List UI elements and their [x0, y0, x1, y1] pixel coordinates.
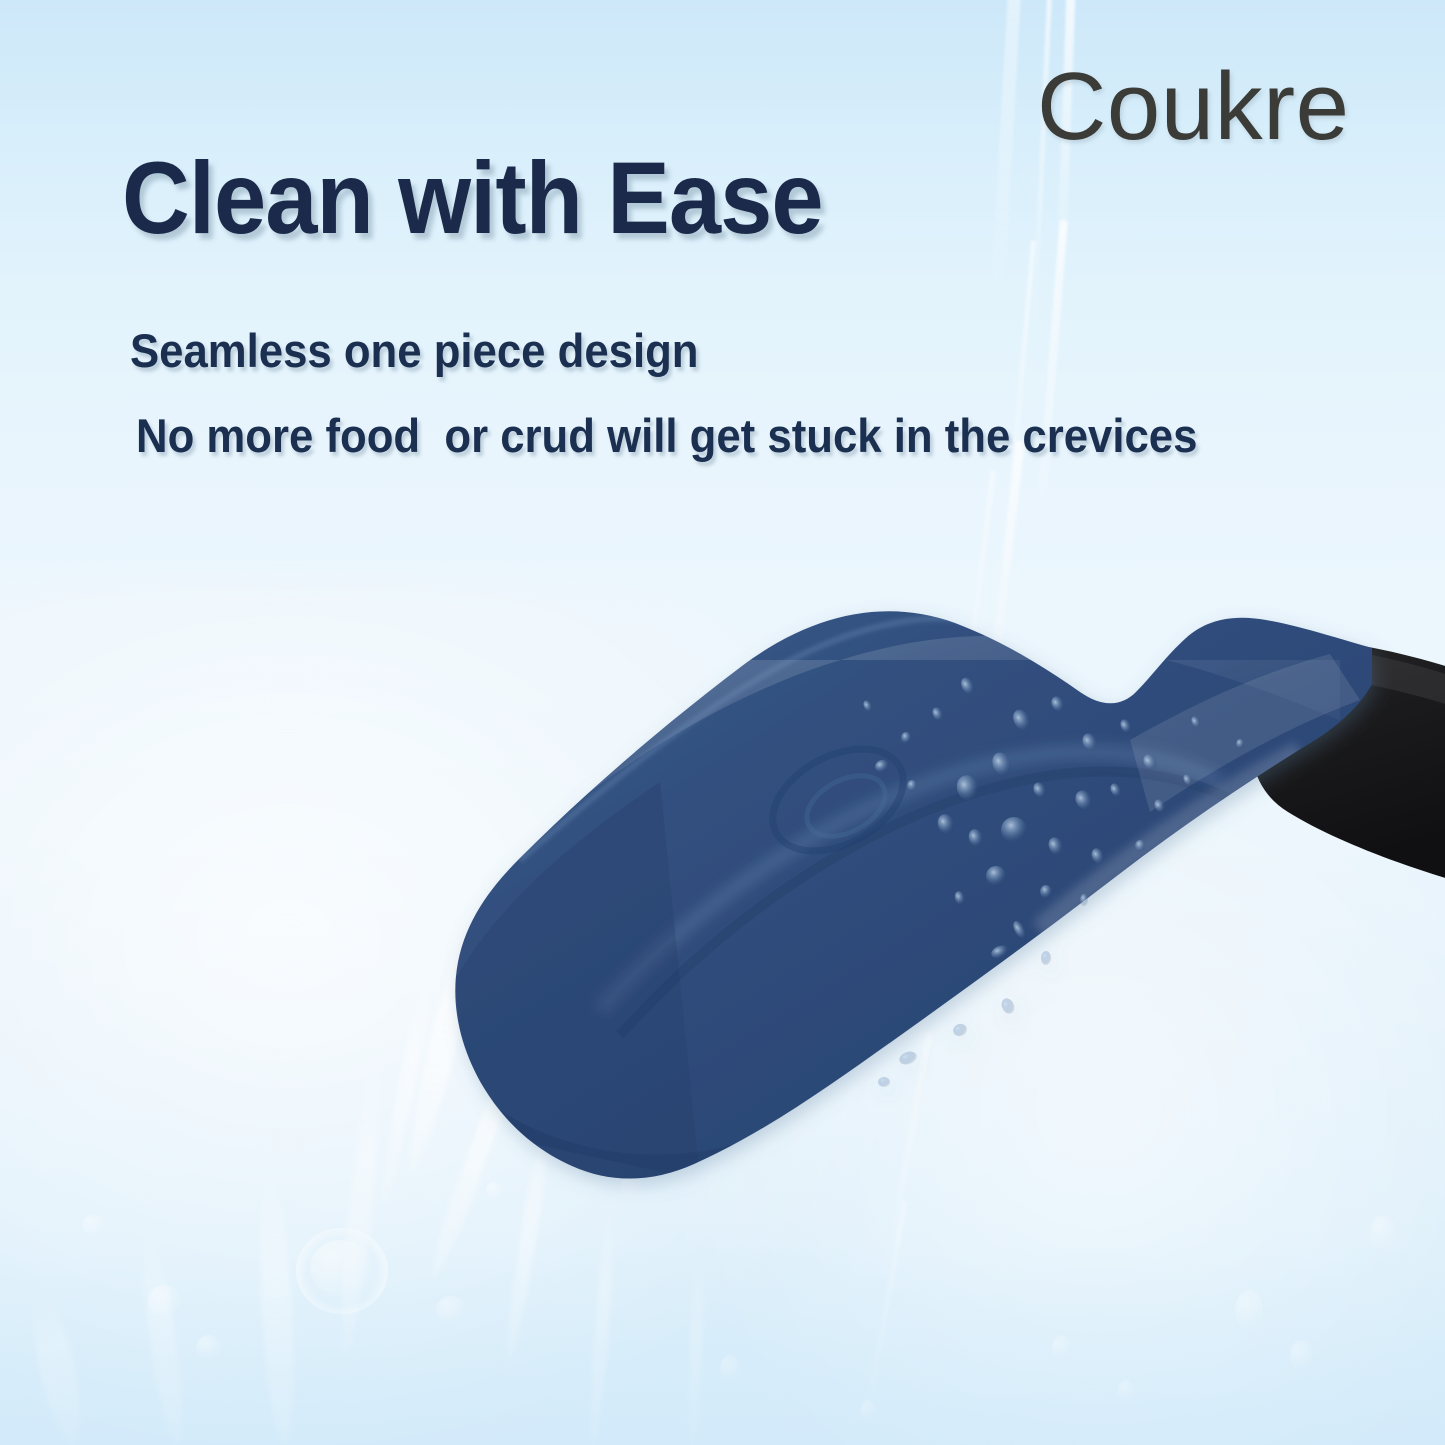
spatula-handle — [1252, 639, 1445, 880]
brand-logo-text: Coukre — [1037, 52, 1349, 162]
product-marketing-image: Coukre Clean with Ease Seamless one piec… — [0, 0, 1445, 1445]
water-wash-left — [0, 578, 939, 1445]
blade-surface-shading — [455, 618, 1360, 1211]
subheading-two: No more food or crud will get stuck in t… — [136, 408, 1197, 463]
water-wash-right — [665, 751, 1445, 1445]
page-title: Clean with Ease — [122, 140, 823, 257]
water-droplets-on-blade — [862, 675, 1244, 1087]
spatula-blade — [455, 611, 1372, 1211]
water-wash-bottom — [0, 1243, 1445, 1445]
subheading-one: Seamless one piece design — [130, 323, 698, 378]
